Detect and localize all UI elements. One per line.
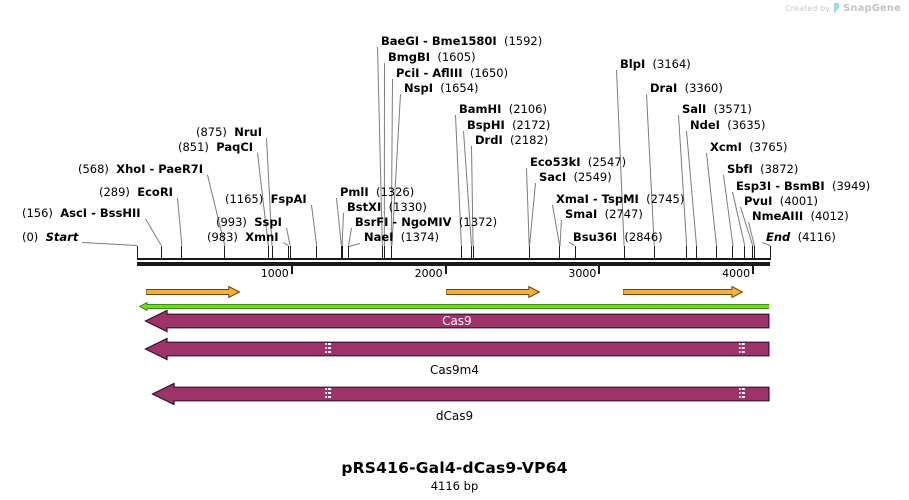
enzyme-name-separator: - <box>589 192 602 206</box>
cut-site-tick <box>461 246 462 260</box>
enzyme-name: BstXI <box>347 200 381 214</box>
enzyme-name-separator: - <box>771 179 784 193</box>
enzyme-position: (3164) <box>653 57 691 71</box>
enzyme-position: (3872) <box>760 162 798 176</box>
enzyme-label-end[interactable]: End (4116) <box>766 230 836 244</box>
enzyme-leader-line <box>706 153 717 246</box>
enzyme-label-drdi[interactable]: DrdI (2182) <box>475 133 548 147</box>
enzyme-position: (2549) <box>573 170 611 184</box>
cut-site-tick <box>384 246 385 260</box>
enzyme-position: (875) <box>196 125 227 139</box>
feature-arrow-icon <box>152 383 769 405</box>
ruler-backbone <box>137 262 770 266</box>
enzyme-position: (1650) <box>470 66 508 80</box>
enzyme-name: PaqCI <box>216 140 253 154</box>
orf-green[interactable] <box>139 296 770 305</box>
enzyme-position: (1592) <box>504 34 542 48</box>
enzyme-label-baegi[interactable]: BaeGI - Bme1580I (1592) <box>381 34 542 48</box>
enzyme-name: Start <box>46 230 79 244</box>
cut-site-tick <box>137 246 138 260</box>
enzyme-label-sspi[interactable]: (993) SspI <box>216 215 282 229</box>
cut-site-tick <box>686 246 687 260</box>
enzyme-name: NspI <box>404 81 433 95</box>
enzyme-name: Bsu36I <box>573 230 617 244</box>
enzyme-label-bsphi[interactable]: BspHI (2172) <box>467 118 550 132</box>
enzyme-name: SspI <box>254 215 282 229</box>
enzyme-name-separator: - <box>145 162 158 176</box>
enzyme-name: NdeI <box>690 118 720 132</box>
plasmid-map: Created by SnapGene (0) Start(156) AscI … <box>0 0 909 500</box>
cut-site-tick <box>382 246 383 260</box>
ruler-tick-label: 3000 <box>564 267 596 280</box>
enzyme-position: (289) <box>99 185 130 199</box>
enzyme-name: BamHI <box>459 102 501 116</box>
ruler-major-tick <box>752 266 754 274</box>
enzyme-label-smai[interactable]: SmaI (2747) <box>565 207 643 221</box>
cut-site-tick <box>348 246 349 260</box>
enzyme-name: SalI <box>682 102 706 116</box>
cut-site-tick <box>290 246 291 260</box>
enzyme-position: (1372) <box>459 215 497 229</box>
enzyme-label-bsrfi[interactable]: BsrFI - NgoMIV (1372) <box>355 215 497 229</box>
enzyme-name: End <box>766 230 790 244</box>
enzyme-label-nrui[interactable]: (875) NruI <box>196 125 262 139</box>
enzyme-position: (2745) <box>646 192 684 206</box>
enzyme-leader-line <box>646 94 655 246</box>
enzyme-position: (568) <box>78 162 109 176</box>
enzyme-name: SmaI <box>565 207 597 221</box>
enzyme-name: Esp3I <box>736 179 771 193</box>
enzyme-label-bamhi[interactable]: BamHI (2106) <box>459 102 547 116</box>
plasmid-size: 4116 bp <box>0 479 909 493</box>
cut-site-tick <box>716 246 717 260</box>
enzyme-leader-line <box>559 220 562 246</box>
enzyme-label-ndei[interactable]: NdeI (3635) <box>690 118 766 132</box>
promoter-3[interactable] <box>623 283 743 295</box>
enzyme-leader-line <box>686 131 697 246</box>
enzyme-name: NgoMIV <box>401 215 451 229</box>
enzyme-name: NruI <box>234 125 262 139</box>
cut-site-tick <box>754 246 755 260</box>
feature-cas9m4[interactable] <box>145 338 769 360</box>
enzyme-position: (4116) <box>798 230 836 244</box>
enzyme-label-xmai[interactable]: XmaI - TspMI (2745) <box>556 192 684 206</box>
enzyme-position: (2547) <box>588 155 626 169</box>
enzyme-position: (2106) <box>509 102 547 116</box>
enzyme-position: (1374) <box>401 230 439 244</box>
enzyme-label-eco53ki[interactable]: Eco53kI (2547) <box>530 155 626 169</box>
enzyme-name: XmaI <box>556 192 589 206</box>
enzyme-name: PmlI <box>340 185 369 199</box>
ruler-major-tick <box>598 266 600 274</box>
enzyme-position: (3635) <box>727 118 765 132</box>
enzyme-name: BlpI <box>620 57 645 71</box>
cut-site-tick <box>473 246 474 260</box>
watermark-prefix: Created by <box>785 4 830 13</box>
enzyme-position: (3765) <box>749 140 787 154</box>
snapgene-watermark: Created by SnapGene <box>785 3 901 14</box>
enzyme-label-nspi[interactable]: NspI (1654) <box>404 81 479 95</box>
enzyme-name: AscI <box>60 206 87 220</box>
enzyme-name: XhoI <box>116 162 145 176</box>
cut-site-tick <box>181 246 182 260</box>
cut-site-tick <box>654 246 655 260</box>
enzyme-label-sali[interactable]: SalI (3571) <box>682 102 752 116</box>
enzyme-name: BsrFI <box>355 215 388 229</box>
enzyme-label-ecori[interactable]: (289) EcoRI <box>99 185 173 199</box>
promoter-1[interactable] <box>146 283 240 295</box>
cut-site-tick <box>624 246 625 260</box>
enzyme-position: (2747) <box>605 207 643 221</box>
cut-site-tick <box>559 246 560 260</box>
cut-site-tick <box>770 246 771 260</box>
enzyme-name: AflIII <box>432 66 462 80</box>
ruler-tick-label: 4000 <box>718 267 750 280</box>
enzyme-position: (1605) <box>437 50 475 64</box>
enzyme-name: TspMI <box>602 192 639 206</box>
enzyme-position: (983) <box>207 230 238 244</box>
enzyme-label-blpi[interactable]: BlpI (3164) <box>620 57 691 71</box>
enzyme-name: DraI <box>650 81 677 95</box>
enzyme-label-pmli[interactable]: PmlI (1326) <box>340 185 414 199</box>
enzyme-name: DrdI <box>475 133 503 147</box>
ruler-major-tick <box>445 266 447 274</box>
enzyme-leader-line <box>348 243 360 247</box>
enzyme-position: (851) <box>178 140 209 154</box>
enzyme-name-separator: - <box>419 34 432 48</box>
enzyme-label-bstxi[interactable]: BstXI (1330) <box>347 200 427 214</box>
enzyme-name-separator: - <box>87 206 100 220</box>
page-title: pRS416-Gal4-dCas9-VP64 <box>0 459 909 477</box>
enzyme-name: FspAI <box>271 192 307 206</box>
enzyme-label-asci[interactable]: (156) AscI - BssHII <box>22 206 141 220</box>
ruler-major-tick <box>291 266 293 274</box>
enzyme-position: (2182) <box>510 133 548 147</box>
enzyme-leader-line <box>723 175 733 246</box>
enzyme-leader-line <box>177 198 182 246</box>
cut-site-tick <box>744 246 745 260</box>
cut-site-tick <box>391 246 392 260</box>
enzyme-label-xcmi[interactable]: XcmI (3765) <box>710 140 788 154</box>
enzyme-label-esp3i[interactable]: Esp3I - BsmBI (3949) <box>736 179 870 193</box>
enzyme-position: (0) <box>22 230 38 244</box>
enzyme-leader-line <box>348 228 352 246</box>
enzyme-leader-line <box>471 146 474 246</box>
enzyme-position: (2172) <box>512 118 550 132</box>
enzyme-name: PciI <box>396 66 419 80</box>
enzyme-label-saci[interactable]: SacI (2549) <box>539 170 612 184</box>
feature-arrow-icon <box>145 310 769 332</box>
enzyme-name: NmeAIII <box>752 209 803 223</box>
enzyme-leader-line <box>529 183 536 246</box>
enzyme-label-xhoi[interactable]: (568) XhoI - PaeR7I <box>78 162 203 176</box>
cut-site-tick <box>575 246 576 260</box>
enzyme-label-bsu36i[interactable]: Bsu36I (2846) <box>573 230 663 244</box>
enzyme-name: XcmI <box>710 140 742 154</box>
enzyme-position: (4001) <box>780 194 818 208</box>
enzyme-name: BaeGI <box>381 34 419 48</box>
enzyme-label-pcii[interactable]: PciI - AflIII (1650) <box>396 66 508 80</box>
enzyme-position: (3949) <box>832 179 870 193</box>
enzyme-label-fspai[interactable]: (1165) FspAI <box>225 192 307 206</box>
watermark-brand: SnapGene <box>843 3 901 14</box>
enzyme-label-bmgbi[interactable]: BmgBI (1605) <box>388 50 476 64</box>
enzyme-name: Eco53kI <box>530 155 581 169</box>
cut-site-tick <box>696 246 697 260</box>
enzyme-position: (4012) <box>810 209 848 223</box>
enzyme-name: BspHI <box>467 118 505 132</box>
enzyme-name: BmgBI <box>388 50 430 64</box>
enzyme-leader-line <box>82 242 137 246</box>
cut-site-tick <box>732 246 733 260</box>
enzyme-label-pvui[interactable]: PvuI (4001) <box>744 194 818 208</box>
cut-site-tick <box>268 246 269 260</box>
enzyme-position: (3360) <box>685 81 723 95</box>
enzyme-name-separator: - <box>419 66 432 80</box>
enzyme-leader-line <box>342 213 344 246</box>
ruler-top-line <box>137 258 770 260</box>
enzyme-position: (1326) <box>376 185 414 199</box>
enzyme-leader-line <box>311 205 317 246</box>
feature-arrow-icon <box>145 338 769 360</box>
enzyme-name: BsmBI <box>784 179 825 193</box>
enzyme-label-start[interactable]: (0) Start <box>22 230 78 244</box>
enzyme-name: EcoRI <box>137 185 173 199</box>
feature-label-dcas9: dCas9 <box>0 409 909 423</box>
enzyme-label-drai[interactable]: DraI (3360) <box>650 81 723 95</box>
enzyme-name: XmnI <box>245 230 278 244</box>
enzyme-position: (2846) <box>624 230 662 244</box>
enzyme-label-sbfi[interactable]: SbfI (3872) <box>727 162 798 176</box>
cut-site-tick <box>529 246 530 260</box>
enzyme-position: (1654) <box>440 81 478 95</box>
enzyme-position: (1330) <box>389 200 427 214</box>
enzyme-label-naei[interactable]: NaeI (1374) <box>364 230 439 244</box>
feature-dcas9[interactable] <box>152 383 769 405</box>
ruler-tick-label: 2000 <box>411 267 443 280</box>
cut-site-tick <box>316 246 317 260</box>
enzyme-name: Bme1580I <box>432 34 497 48</box>
cut-site-tick <box>272 246 273 260</box>
enzyme-label-xmni[interactable]: (983) XmnI <box>207 230 279 244</box>
enzyme-name: BssHII <box>100 206 141 220</box>
enzyme-name: PvuI <box>744 194 772 208</box>
enzyme-name: SbfI <box>727 162 753 176</box>
feature-cas9[interactable]: Cas9 <box>145 310 769 332</box>
enzyme-name-separator: - <box>388 215 401 229</box>
cut-site-tick <box>342 246 343 260</box>
promoter-2[interactable] <box>446 283 540 295</box>
enzyme-leader-line <box>145 218 162 246</box>
enzyme-label-nmeaiii[interactable]: NmeAIII (4012) <box>752 209 849 223</box>
enzyme-name: PaeR7I <box>158 162 203 176</box>
ruler-tick-label: 1000 <box>257 267 289 280</box>
cut-site-tick <box>224 246 225 260</box>
snapgene-logo-icon <box>833 3 840 14</box>
enzyme-position: (1165) <box>225 192 263 206</box>
enzyme-position: (156) <box>22 206 53 220</box>
enzyme-position: (993) <box>216 215 247 229</box>
cut-site-tick <box>161 246 162 260</box>
enzyme-position: (3571) <box>714 102 752 116</box>
feature-label-cas9m4: Cas9m4 <box>0 363 909 377</box>
enzyme-name: SacI <box>539 170 566 184</box>
enzyme-name: NaeI <box>364 230 393 244</box>
enzyme-label-paqci[interactable]: (851) PaqCI <box>178 140 253 154</box>
